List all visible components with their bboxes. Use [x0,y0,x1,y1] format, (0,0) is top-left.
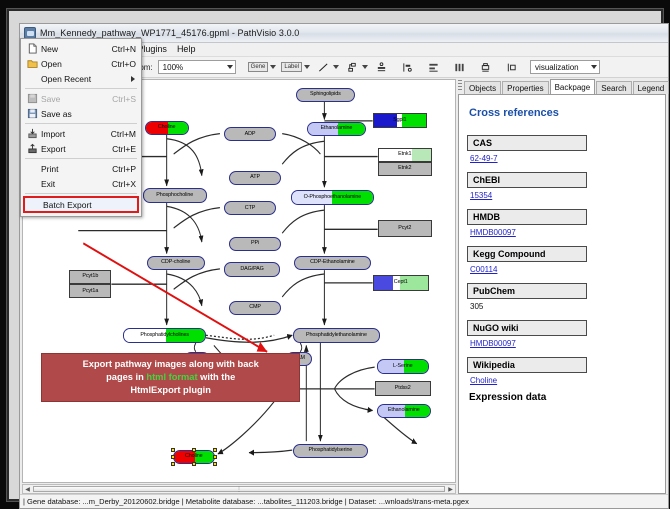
menu-item-label: Save [41,94,112,104]
panel-drag-handle[interactable] [458,80,462,92]
node-label: ADP [245,132,256,137]
xref-link[interactable]: 15354 [470,191,492,200]
import-icon [23,128,41,139]
interaction-icon[interactable] [344,59,360,75]
tab-objects[interactable]: Objects [464,81,501,94]
new-document-icon [23,43,41,54]
node-label: Pcyt2 [398,226,411,231]
xref-name-wikipedia: Wikipedia [467,357,587,373]
menu-separator [25,193,137,194]
export-icon [23,143,41,154]
side-panel-tabs[interactable]: Objects Properties Backpage Search Legen… [458,79,666,94]
pathway-node-choline_top[interactable]: Choline [145,121,189,135]
selection-handle[interactable] [171,448,175,452]
node-label: Ethanolamine [321,126,353,131]
xref-value[interactable]: Choline [470,376,657,385]
node-label: Pcyt1a [82,289,98,294]
menu-item-accelerator: Ctrl+S [112,94,141,104]
node-label: Sgpl1 [393,118,406,123]
node-label: Phosphocholine [156,193,193,198]
expression-data-heading: Expression data [469,392,657,403]
node-label: Pcyt1b [82,274,98,279]
menu-item-accelerator: Ctrl+E [112,144,141,154]
callout-line2-pre: pages in [106,372,146,382]
xref-value[interactable]: HMDB00097 [470,339,657,348]
pathway-node-cept1[interactable]: Cept1 [373,275,429,290]
xref-name-chebi: ChEBI [467,172,587,188]
visualization-value: visualization [535,63,579,72]
callout-line2-post: with the [198,372,236,382]
node-label: ATP [250,175,260,180]
xref-value[interactable]: HMDB00097 [470,228,657,237]
line-icon[interactable] [315,59,331,75]
scroll-left-icon[interactable]: ◀ [23,485,32,493]
node-label: CDP-choline [161,260,190,265]
menu-separator [25,123,137,124]
file-menu-item-export[interactable]: ExportCtrl+E [21,141,141,156]
file-menu-item-print[interactable]: PrintCtrl+P [21,161,141,176]
xref-name-nugo-wiki: NuGO wiki [467,320,587,336]
print-icon[interactable] [477,59,493,75]
zoom-combo[interactable]: 100% [158,60,236,74]
xref-link[interactable]: 62-49-7 [470,154,498,163]
interaction-dropdown-icon[interactable] [362,65,368,69]
visualization-combo[interactable]: visualization [530,60,600,74]
pathway-node-ptdcholines[interactable]: Phosphatidylcholines [123,328,205,343]
screenshot-root: Mm_Kennedy_pathway_WP1771_45176.gpml - P… [0,0,670,509]
save-as-icon [23,108,41,119]
cross-reference-list: CAS62-49-7ChEBI15354HMDBHMDB00097Kegg Co… [467,133,657,385]
callout-line-3: HtmlExport plugin [48,384,293,397]
tab-backpage[interactable]: Backpage [550,79,596,94]
node-label: Choline [158,125,176,130]
xref-block: NuGO wikiHMDB00097 [467,318,657,348]
pathway-node-ctp[interactable]: CTP [224,201,276,215]
menu-item-label: Exit [41,179,112,189]
node-label: Ptdss2 [395,386,411,391]
file-menu-item-exit[interactable]: ExitCtrl+X [21,176,141,191]
node-label: Phosphatidylserine [309,448,353,453]
window-title: Mm_Kennedy_pathway_WP1771_45176.gpml - P… [40,28,299,38]
pathway-node-etnk1[interactable]: Etnk1 [378,148,432,162]
menu-item-accelerator: Ctrl+N [112,44,141,54]
pathvisio-window: Mm_Kennedy_pathway_WP1771_45176.gpml - P… [19,23,669,509]
callout-line-2: pages in html format with the [48,371,293,384]
xref-value[interactable]: 15354 [470,191,657,200]
xref-block: ChEBI15354 [467,170,657,200]
callout-highlight: html format [146,372,197,382]
menu-item-label: Print [41,164,112,174]
menu-separator [25,158,137,159]
menu-separator [25,88,137,89]
xref-name-kegg-compound: Kegg Compound [467,246,587,262]
node-label: DAG/PAG [240,267,263,272]
menu-item-accelerator: Ctrl+P [112,164,141,174]
cross-references-title: Cross references [469,107,657,119]
tab-properties[interactable]: Properties [502,81,548,94]
zoom-value: 100% [163,63,183,72]
file-menu-item-open-recent[interactable]: Open Recent [21,71,141,86]
xref-value: 305 [470,302,657,311]
outer-frame: Mm_Kennedy_pathway_WP1771_45176.gpml - P… [7,9,663,501]
pathway-node-etnk2[interactable]: Etnk2 [378,162,432,176]
stack-icon[interactable] [425,59,441,75]
menu-item-label: New [41,44,112,54]
save-icon [23,93,41,104]
backpage-panel: Cross references CAS62-49-7ChEBI15354HMD… [458,94,666,494]
xref-value[interactable]: 62-49-7 [470,154,657,163]
menu-help[interactable]: Help [172,43,201,56]
pathway-node-ethanolamine_1[interactable]: Ethanolamine [307,122,365,136]
pathway-node-pcyt1b[interactable]: Pcyt1b [69,270,111,284]
node-label: O-Phosphoethanolamine [304,195,362,200]
pathway-node-lserine[interactable]: L-Serine [377,359,429,373]
xref-link[interactable]: Choline [470,376,497,385]
align-left-icon[interactable] [399,59,415,75]
pathway-node-sphingolipids[interactable]: Sphingolipids [296,88,354,102]
selection-handle[interactable] [213,455,217,459]
node-label: Phosphatidylcholines [140,333,189,338]
pathway-node-ptdserine[interactable]: Phosphatidylserine [293,444,367,458]
xref-name-pubchem: PubChem [467,283,587,299]
node-label: L-Serine [393,364,413,369]
xref-name-cas: CAS [467,135,587,151]
selection-handle[interactable] [171,455,175,459]
open-folder-icon [23,58,41,69]
menu-item-accelerator: Ctrl+X [112,179,141,189]
pathway-node-dag_pag[interactable]: DAG/PAG [224,262,280,276]
xref-name-hmdb: HMDB [467,209,587,225]
node-label: Etnk2 [398,166,411,171]
xref-link[interactable]: C00114 [470,265,497,274]
node-label: Sphingolipids [310,92,341,97]
chevron-down-icon [227,65,233,69]
datanode-dropdown-icon[interactable] [270,65,276,69]
xref-block: Kegg CompoundC00114 [467,244,657,274]
node-fill [374,276,394,289]
menu-item-label: Export [41,144,112,154]
node-label: Ethanolamine [388,408,420,413]
file-menu-item-open[interactable]: OpenCtrl+O [21,56,141,71]
layout-icon[interactable] [503,59,519,75]
node-fill [412,149,431,161]
node-label: Phosphatidylethanolamine [306,333,367,338]
scroll-right-icon[interactable]: ▶ [446,485,455,493]
line-dropdown-icon[interactable] [333,65,339,69]
node-label: Etnk1 [398,152,411,157]
menu-item-label: Save as [41,109,136,119]
menu-item-accelerator: Ctrl+M [111,129,141,139]
pathway-node-pcyt2[interactable]: Pcyt2 [378,220,432,237]
menu-item-label: Import [41,129,111,139]
pathway-node-cdp_choline[interactable]: CDP-choline [147,256,205,270]
file-menu-item-save: SaveCtrl+S [21,91,141,106]
node-label: CMP [249,305,261,310]
xref-value[interactable]: C00114 [470,265,657,274]
pathway-node-ptdeth[interactable]: Phosphatidylethanolamine [293,328,379,343]
file-menu-item-new[interactable]: NewCtrl+N [21,41,141,56]
node-label: PPi [251,241,259,246]
node-label: Choline [185,454,203,459]
tab-legend[interactable]: Legend [633,81,670,94]
node-label: Cept1 [394,280,408,285]
pathway-node-ppi[interactable]: PPi [229,237,281,251]
pathway-node-cmp[interactable]: CMP [229,301,281,315]
selection-handle[interactable] [213,462,217,466]
chevron-down-icon [591,65,597,69]
node-label: CTP [245,206,255,211]
xref-block: PubChem305 [467,281,657,311]
canvas-horizontal-scrollbar[interactable]: ◀ ⋮ ▶ [22,484,456,494]
pathway-node-ptdss2[interactable]: Ptdss2 [375,381,431,396]
pathway-node-adp[interactable]: ADP [224,127,276,141]
pathway-node-atp[interactable]: ATP [229,171,281,185]
status-text: | Gene database: ...m_Derby_20120602.bri… [23,497,469,506]
file-menu-item-import[interactable]: ImportCtrl+M [21,126,141,141]
xref-link[interactable]: HMDB00097 [470,228,516,237]
callout-line-1: Export pathway images along with back [48,358,293,371]
callout-annotation: Export pathway images along with back pa… [41,353,300,402]
pathway-node-ethanolamine_2[interactable]: Ethanolamine [377,404,431,418]
align-top-icon[interactable] [373,59,389,75]
xref-block: WikipediaCholine [467,355,657,385]
distribute-icon[interactable] [451,59,467,75]
file-menu-dropdown[interactable]: NewCtrl+NOpenCtrl+OOpen RecentSaveCtrl+S… [20,38,142,217]
xref-link[interactable]: HMDB00097 [470,339,516,348]
selection-handle[interactable] [213,448,217,452]
file-menu-item-save-as[interactable]: Save as [21,106,141,121]
label-dropdown-icon[interactable] [304,65,310,69]
datanode-icon[interactable]: Gene [248,62,269,72]
selection-handle[interactable] [171,462,175,466]
pathway-node-o_phospho_eth[interactable]: O-Phosphoethanolamine [291,190,373,205]
submenu-arrow-icon [131,76,135,82]
file-menu-item-batch-export[interactable]: Batch Export [23,196,139,213]
menu-item-label: Open [41,59,111,69]
pathway-node-cdp_eth[interactable]: CDP-Ethanolamine [294,256,370,270]
pathway-node-pcyt1a[interactable]: Pcyt1a [69,284,111,298]
selection-handle[interactable] [192,462,196,466]
scrollbar-thumb[interactable]: ⋮ [33,486,445,492]
pathway-node-sgpl1[interactable]: Sgpl1 [373,113,427,128]
node-label: CDP-Ethanolamine [310,260,355,265]
xref-block: HMDBHMDB00097 [467,207,657,237]
xref-block: CAS62-49-7 [467,133,657,163]
tab-search[interactable]: Search [596,81,631,94]
menu-item-label: Batch Export [25,200,132,210]
status-bar: | Gene database: ...m_Derby_20120602.bri… [20,494,668,508]
pathway-node-phosphocholine[interactable]: Phosphocholine [143,188,207,202]
side-panel: Objects Properties Backpage Search Legen… [456,78,668,494]
label-icon[interactable]: Label [281,62,302,72]
menu-item-label: Open Recent [41,74,131,84]
selection-handle[interactable] [192,448,196,452]
menu-item-accelerator: Ctrl+O [111,59,141,69]
